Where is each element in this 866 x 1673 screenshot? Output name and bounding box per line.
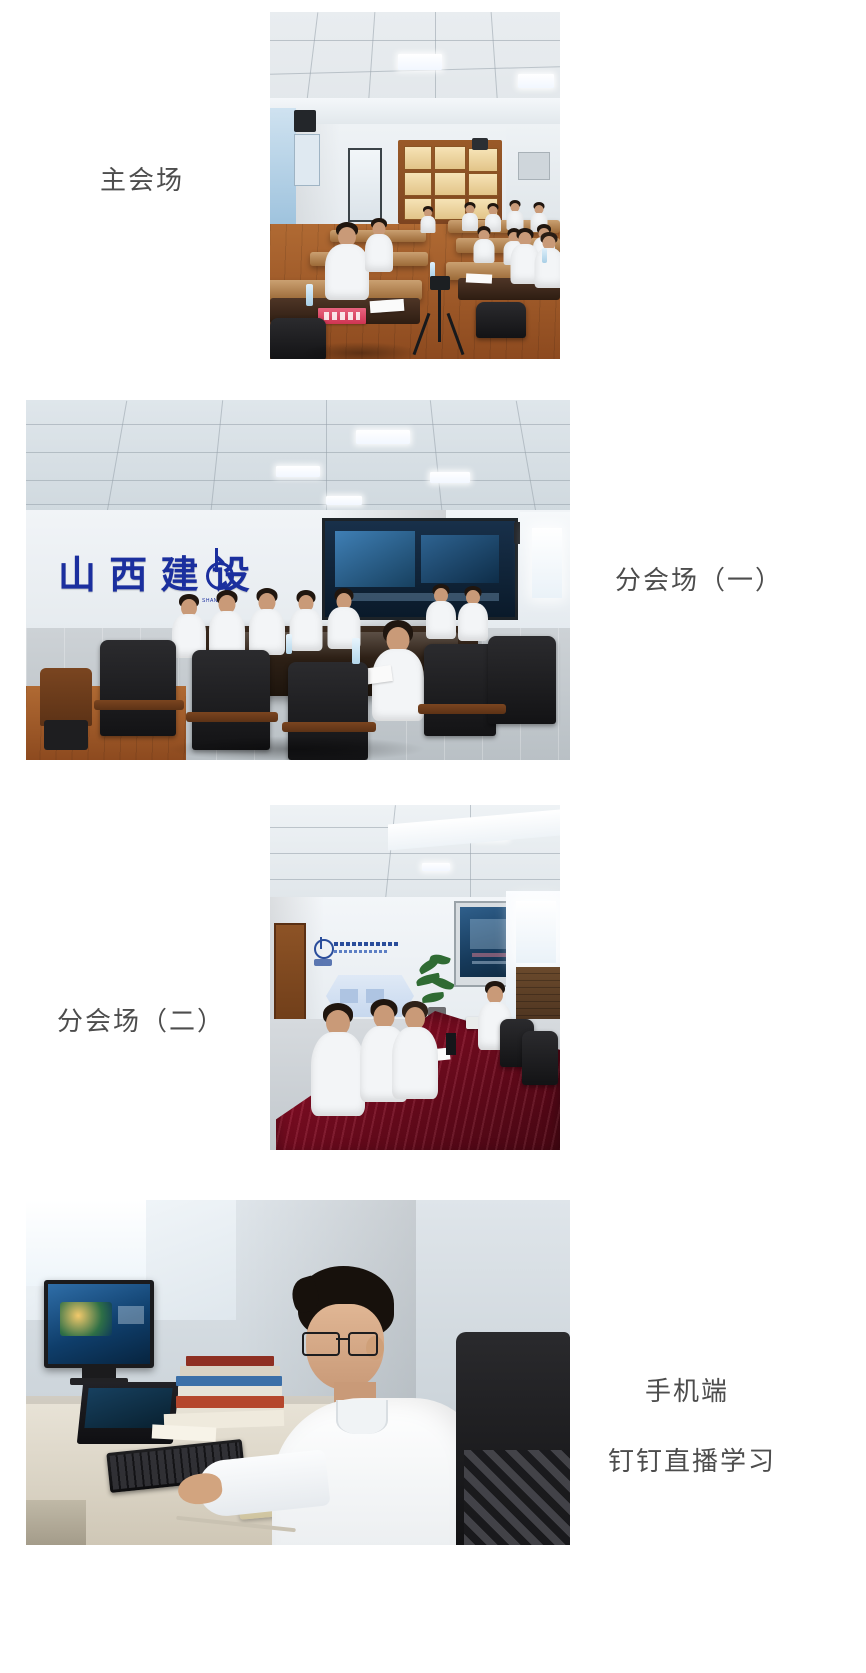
caption-sub-venue-two: 分会场（二）	[57, 1003, 225, 1041]
glasses-icon	[302, 1332, 340, 1356]
photo-sub-venue-two	[270, 805, 560, 1150]
caption-sub-venue-one: 分会场（一）	[615, 562, 783, 600]
camera-head-icon	[430, 276, 450, 290]
caption-mobile-client: 手机端	[645, 1373, 729, 1411]
caption-main-venue: 主会场	[100, 162, 184, 200]
desktop-monitor	[44, 1280, 154, 1368]
wall-sign-sub-two	[314, 933, 406, 969]
photo-main-venue	[270, 12, 560, 359]
photo-sub-venue-one: 山 西 建 设 SHANXI CXG	[26, 400, 570, 760]
photo-mobile-dingtalk	[26, 1200, 570, 1545]
caption-dingtalk-live-study: 钉钉直播学习	[608, 1443, 776, 1481]
company-mark-icon	[204, 552, 230, 594]
photo-collage-page: 主会场	[0, 0, 866, 1673]
